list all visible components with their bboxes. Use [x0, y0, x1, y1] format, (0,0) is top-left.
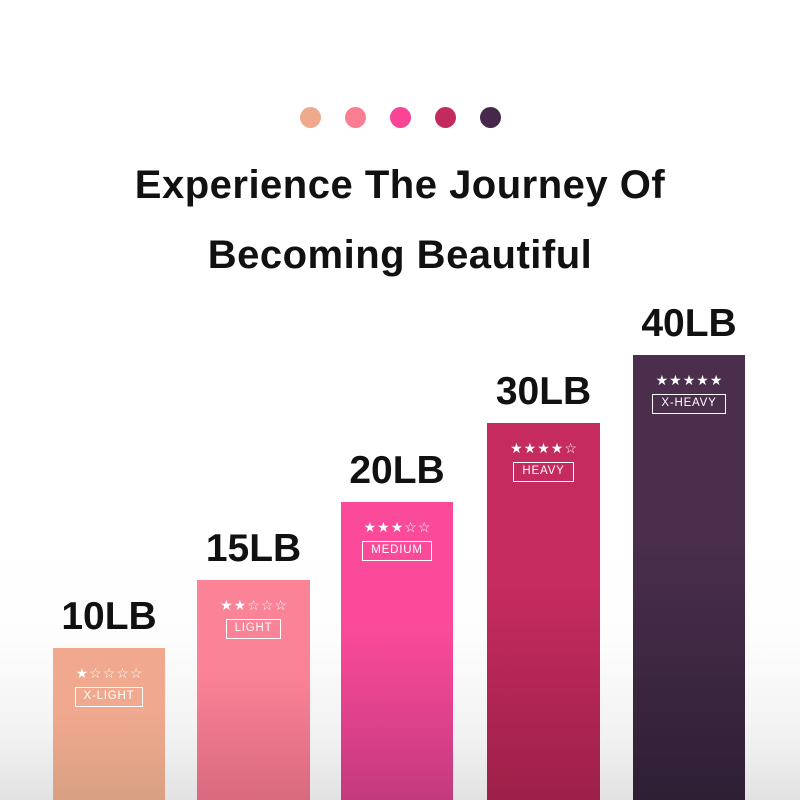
star-rating: ★☆☆☆☆	[76, 666, 143, 680]
star-filled-icon: ★	[234, 598, 247, 612]
level-label-x-heavy: X-HEAVY	[652, 394, 725, 414]
bar-40lb[interactable]: ★★★★★X-HEAVY	[633, 355, 745, 800]
bar-badge: ★★★☆☆MEDIUM	[341, 520, 453, 561]
star-filled-icon: ★	[710, 373, 723, 387]
star-empty-icon: ☆	[274, 598, 287, 612]
star-filled-icon: ★	[656, 373, 669, 387]
bar-badge: ★★☆☆☆LIGHT	[197, 598, 310, 639]
star-filled-icon: ★	[510, 441, 523, 455]
star-rating: ★★☆☆☆	[220, 598, 287, 612]
bar-value-label-40lb: 40LB	[641, 304, 736, 355]
bar-group-30lb[interactable]: 30LB★★★★☆HEAVY	[487, 423, 600, 800]
star-filled-icon: ★	[220, 598, 233, 612]
star-rating: ★★★★☆	[510, 441, 577, 455]
star-empty-icon: ☆	[116, 666, 129, 680]
star-filled-icon: ★	[377, 520, 390, 534]
bar-15lb[interactable]: ★★☆☆☆LIGHT	[197, 580, 310, 800]
star-filled-icon: ★	[524, 441, 537, 455]
star-filled-icon: ★	[551, 441, 564, 455]
star-empty-icon: ☆	[247, 598, 260, 612]
star-filled-icon: ★	[364, 520, 377, 534]
star-empty-icon: ☆	[404, 520, 417, 534]
bar-group-10lb[interactable]: 10LB★☆☆☆☆X-LIGHT	[53, 648, 165, 800]
star-filled-icon: ★	[391, 520, 404, 534]
level-label-heavy: HEAVY	[513, 462, 573, 482]
bar-value-label-30lb: 30LB	[496, 372, 591, 423]
bar-value-label-10lb: 10LB	[61, 597, 156, 648]
star-filled-icon: ★	[696, 373, 709, 387]
bar-badge: ★☆☆☆☆X-LIGHT	[53, 666, 165, 707]
level-label-medium: MEDIUM	[362, 541, 431, 561]
bar-30lb[interactable]: ★★★★☆HEAVY	[487, 423, 600, 800]
bar-badge: ★★★★☆HEAVY	[487, 441, 600, 482]
bar-20lb[interactable]: ★★★☆☆MEDIUM	[341, 502, 453, 800]
bar-badge: ★★★★★X-HEAVY	[633, 373, 745, 414]
star-empty-icon: ☆	[89, 666, 102, 680]
bar-fill	[633, 355, 745, 800]
resistance-band-bar-chart: 10LB★☆☆☆☆X-LIGHT15LB★★☆☆☆LIGHT20LB★★★☆☆M…	[0, 0, 800, 800]
star-empty-icon: ☆	[103, 666, 116, 680]
bar-value-label-20lb: 20LB	[349, 451, 444, 502]
star-filled-icon: ★	[683, 373, 696, 387]
star-empty-icon: ☆	[564, 441, 577, 455]
bar-group-40lb[interactable]: 40LB★★★★★X-HEAVY	[633, 355, 745, 800]
star-filled-icon: ★	[537, 441, 550, 455]
bar-value-label-15lb: 15LB	[206, 529, 301, 580]
star-filled-icon: ★	[669, 373, 682, 387]
star-empty-icon: ☆	[130, 666, 143, 680]
bar-group-20lb[interactable]: 20LB★★★☆☆MEDIUM	[341, 502, 453, 800]
level-label-x-light: X-LIGHT	[75, 687, 144, 707]
star-rating: ★★★★★	[656, 373, 723, 387]
bar-group-15lb[interactable]: 15LB★★☆☆☆LIGHT	[197, 580, 310, 800]
bar-10lb[interactable]: ★☆☆☆☆X-LIGHT	[53, 648, 165, 800]
star-empty-icon: ☆	[418, 520, 431, 534]
star-empty-icon: ☆	[261, 598, 274, 612]
star-rating: ★★★☆☆	[364, 520, 431, 534]
level-label-light: LIGHT	[226, 619, 282, 639]
star-filled-icon: ★	[76, 666, 89, 680]
